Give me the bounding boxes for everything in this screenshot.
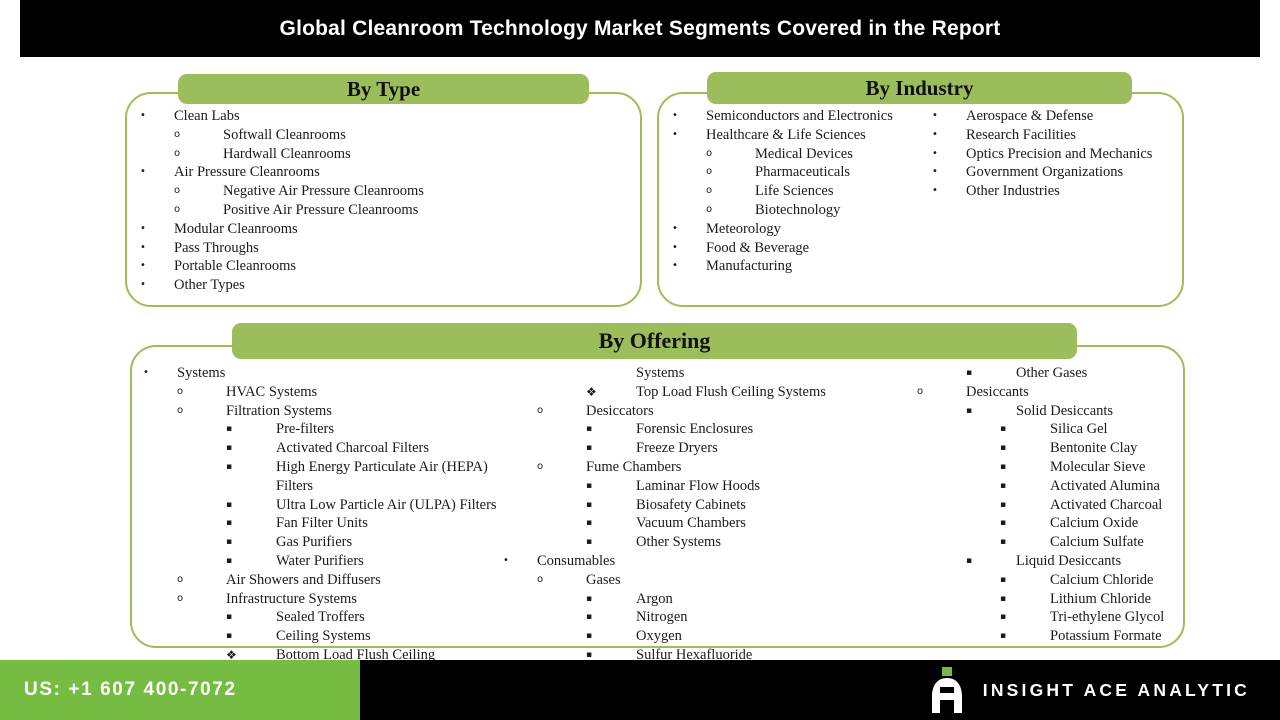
list-item: •Manufacturing [672, 257, 932, 276]
list-item-label: Vacuum Chambers [636, 514, 883, 533]
bullet-square-icon: ▪ [883, 477, 1050, 496]
list-item: oFume Chambers [503, 458, 883, 477]
bullet-dot-icon: • [140, 257, 174, 276]
bullet-circle-icon: o [503, 571, 586, 590]
list-item-label: Other Systems [636, 533, 883, 552]
list-item: ▪Water Purifiers [143, 552, 503, 571]
list-item-label: Fume Chambers [586, 458, 883, 477]
bullet-square-icon: ▪ [503, 533, 636, 552]
list-item: •Government Organizations [932, 163, 1172, 182]
list-item-label: Negative Air Pressure Cleanrooms [223, 182, 424, 201]
bullet-dot-icon: • [140, 276, 174, 295]
list-item-label: Hardwall Cleanrooms [223, 145, 424, 164]
list-item: ▪Ceiling Systems [143, 627, 503, 646]
bullet-dot-icon: • [672, 239, 706, 258]
bullet-circle-icon: o [140, 182, 223, 201]
list-item: •Other Industries [932, 182, 1172, 201]
list-item-label: Research Facilities [966, 126, 1172, 145]
list-item: •Pass Throughs [140, 239, 424, 258]
list-item-label: Consumables [537, 552, 883, 571]
list-item-label: Gases [586, 571, 883, 590]
list-item: ▪Biosafety Cabinets [503, 496, 883, 515]
list-item-label: Activated Charcoal [1050, 496, 1173, 515]
list-item-label: Meteorology [706, 220, 932, 239]
bullet-circle-icon: o [672, 201, 755, 220]
list-item-label: Water Purifiers [276, 552, 503, 571]
list-item-label: Solid Desiccants [1016, 402, 1173, 421]
bullet-square-icon: ▪ [503, 420, 636, 439]
list-item: •Meteorology [672, 220, 932, 239]
footer-bar: US: +1 607 400-7072 INSIGHT ACE ANALYTIC [0, 660, 1280, 720]
list-item-label: Oxygen [636, 627, 883, 646]
list-item-label: Activated Alumina [1050, 477, 1173, 496]
insight-ace-logo-icon [927, 667, 967, 713]
bullet-circle-icon: o [143, 590, 226, 609]
bullet-dot-icon: • [140, 220, 174, 239]
list-item: oMedical Devices [672, 145, 932, 164]
bullet-dot-icon: • [140, 107, 174, 126]
bullet-circle-icon: o [140, 201, 223, 220]
list-item: oGases [503, 571, 883, 590]
bullet-square-icon: ▪ [143, 496, 276, 515]
list-item-label: Food & Beverage [706, 239, 932, 258]
list-item-label: Filtration Systems [226, 402, 503, 421]
bullet-dot-icon: • [932, 182, 966, 201]
card-header-by-offering: By Offering [232, 323, 1077, 359]
list-item-label: Biotechnology [755, 201, 932, 220]
list-item-label: HVAC Systems [226, 383, 503, 402]
list-item: oLife Sciences [672, 182, 932, 201]
bullet-square-icon: ▪ [143, 608, 276, 627]
list-item-label: Bentonite Clay [1050, 439, 1173, 458]
list-item: oDesiccators [503, 402, 883, 421]
list-item-label: Desiccators [586, 402, 883, 421]
list-item: ▪Calcium Chloride [883, 571, 1173, 590]
bullet-dot-icon: • [672, 257, 706, 276]
list-item-label: Lithium Chloride [1050, 590, 1173, 609]
list-item: •Research Facilities [932, 126, 1172, 145]
by-offering-list: •SystemsoHVAC SystemsoFiltration Systems… [143, 364, 1173, 684]
bullet-square-icon: ▪ [503, 627, 636, 646]
list-item-label: Modular Cleanrooms [174, 220, 424, 239]
list-item-label: Life Sciences [755, 182, 932, 201]
list-item: ▪Fan Filter Units [143, 514, 503, 533]
list-item-label: Softwall Cleanrooms [223, 126, 424, 145]
bullet-square-icon: ▪ [883, 533, 1050, 552]
list-item-label: Nitrogen [636, 608, 883, 627]
list-item: oHardwall Cleanrooms [140, 145, 424, 164]
bullet-circle-icon: o [503, 458, 586, 477]
list-item-label: Other Gases [1016, 364, 1173, 383]
bullet-dot-icon: • [932, 145, 966, 164]
list-item-label: Systems [177, 364, 503, 383]
list-item: ▪Liquid Desiccants [883, 552, 1173, 571]
bullet-square-icon: ▪ [883, 590, 1050, 609]
list-item: ▪Sealed Troffers [143, 608, 503, 627]
list-item-label: Freeze Dryers [636, 439, 883, 458]
list-item-label: Potassium Formate [1050, 627, 1173, 646]
list-item-label: Molecular Sieve [1050, 458, 1173, 477]
list-item: ▪Pre-filters [143, 420, 503, 439]
list-item-label: Pharmaceuticals [755, 163, 932, 182]
list-item: ▪Nitrogen [503, 608, 883, 627]
list-item-label: Pre-filters [276, 420, 503, 439]
bullet-square-icon: ▪ [883, 364, 1016, 383]
list-item: oSoftwall Cleanrooms [140, 126, 424, 145]
list-item: •Air Pressure Cleanrooms [140, 163, 424, 182]
list-item: ▪Oxygen [503, 627, 883, 646]
bullet-dot-icon: • [672, 220, 706, 239]
bullet-square-icon: ▪ [143, 627, 276, 646]
list-item-label: Liquid Desiccants [1016, 552, 1173, 571]
bullet-circle-icon: o [672, 163, 755, 182]
bullet-square-icon: ▪ [883, 627, 1050, 646]
bullet-square-icon: ▪ [883, 514, 1050, 533]
list-item: oPharmaceuticals [672, 163, 932, 182]
card-header-by-industry: By Industry [707, 72, 1132, 104]
by-type-column: •Clean LabsoSoftwall CleanroomsoHardwall… [140, 107, 424, 295]
list-item-label: Clean Labs [174, 107, 424, 126]
list-item: oPositive Air Pressure Cleanrooms [140, 201, 424, 220]
list-item-label: Aerospace & Defense [966, 107, 1172, 126]
list-item: ▪Other Gases [883, 364, 1173, 383]
bullet-dot-icon: • [140, 163, 174, 182]
bullet-circle-icon: o [140, 126, 223, 145]
list-item: ▪Tri-ethylene Glycol [883, 608, 1173, 627]
list-item: oHVAC Systems [143, 383, 503, 402]
list-item-label: Sealed Troffers [276, 608, 503, 627]
list-item-label: Argon [636, 590, 883, 609]
bullet-square-icon: ▪ [883, 439, 1050, 458]
list-item-label: Activated Charcoal Filters [276, 439, 503, 458]
bullet-diamond-icon: ❖ [503, 383, 636, 402]
bullet-square-icon: ▪ [883, 608, 1050, 627]
list-item-label: Calcium Sulfate [1050, 533, 1173, 552]
list-item: ▪Lithium Chloride [883, 590, 1173, 609]
page-title: Global Cleanroom Technology Market Segme… [280, 17, 1001, 41]
list-item: •Optics Precision and Mechanics [932, 145, 1172, 164]
by-offering-column-3: ▪Other GasesoDesiccants▪Solid Desiccants… [883, 364, 1173, 684]
bullet-dot-icon: • [932, 107, 966, 126]
list-item-label: Infrastructure Systems [226, 590, 503, 609]
list-item-label: Healthcare & Life Sciences [706, 126, 932, 145]
list-item-label: Forensic Enclosures [636, 420, 883, 439]
list-item: ▪Laminar Flow Hoods [503, 477, 883, 496]
list-item: ▪Activated Charcoal Filters [143, 439, 503, 458]
list-item: ▪Potassium Formate [883, 627, 1173, 646]
list-item: •Food & Beverage [672, 239, 932, 258]
brand-name: INSIGHT ACE ANALYTIC [983, 680, 1250, 701]
list-item-label: Fan Filter Units [276, 514, 503, 533]
by-type-list: •Clean LabsoSoftwall CleanroomsoHardwall… [140, 107, 635, 295]
bullet-circle-icon: o [140, 145, 223, 164]
list-item: ▪Ultra Low Particle Air (ULPA) Filters [143, 496, 503, 515]
list-item: ▪Vacuum Chambers [503, 514, 883, 533]
list-item: ▪Calcium Sulfate [883, 533, 1173, 552]
bullet-square-icon: ▪ [883, 420, 1050, 439]
list-item: ▪Silica Gel [883, 420, 1173, 439]
bullet-dot-icon: • [143, 364, 177, 383]
list-item: •Systems [143, 364, 503, 383]
by-offering-column-1: •SystemsoHVAC SystemsoFiltration Systems… [143, 364, 503, 684]
bullet-square-icon: ▪ [883, 552, 1016, 571]
bullet-circle-icon: o [883, 383, 966, 402]
bullet-circle-icon: o [503, 402, 586, 421]
list-item-label: Other Types [174, 276, 424, 295]
footer-contact-block: US: +1 607 400-7072 [0, 660, 360, 720]
list-item-label: Silica Gel [1050, 420, 1173, 439]
list-item-label: High Energy Particulate Air (HEPA) Filte… [276, 458, 503, 496]
list-item-label: Laminar Flow Hoods [636, 477, 883, 496]
list-item: oNegative Air Pressure Cleanrooms [140, 182, 424, 201]
list-item-label: Gas Purifiers [276, 533, 503, 552]
list-item-label: Calcium Oxide [1050, 514, 1173, 533]
list-item: ▪Solid Desiccants [883, 402, 1173, 421]
list-item-label: Portable Cleanrooms [174, 257, 424, 276]
bullet-dot-icon: • [503, 552, 537, 571]
list-item-label: Optics Precision and Mechanics [966, 145, 1172, 164]
list-item: •Aerospace & Defense [932, 107, 1172, 126]
bullet-square-icon: ▪ [143, 514, 276, 533]
list-item: ▪Other Systems [503, 533, 883, 552]
bullet-circle-icon: o [143, 402, 226, 421]
list-item: Systems [503, 364, 883, 383]
list-item-label: Systems [636, 364, 883, 383]
bullet-square-icon: ▪ [503, 590, 636, 609]
list-item-label: Government Organizations [966, 163, 1172, 182]
list-item-label: Manufacturing [706, 257, 932, 276]
slide-canvas: Global Cleanroom Technology Market Segme… [0, 0, 1280, 720]
bullet-square-icon: ▪ [883, 458, 1050, 477]
list-item: oAir Showers and Diffusers [143, 571, 503, 590]
list-item-label: Top Load Flush Ceiling Systems [636, 383, 883, 402]
list-item: •Consumables [503, 552, 883, 571]
card-header-by-type: By Type [178, 74, 589, 104]
bullet-dot-icon: • [932, 163, 966, 182]
bullet-square-icon: ▪ [883, 496, 1050, 515]
list-item-label: Air Pressure Cleanrooms [174, 163, 424, 182]
list-item: ❖Top Load Flush Ceiling Systems [503, 383, 883, 402]
list-item: •Clean Labs [140, 107, 424, 126]
list-item: oDesiccants [883, 383, 1173, 402]
bullet-square-icon: ▪ [143, 458, 276, 477]
list-item: oFiltration Systems [143, 402, 503, 421]
list-item: •Other Types [140, 276, 424, 295]
by-industry-column-2: •Aerospace & Defense•Research Facilities… [932, 107, 1172, 276]
list-item-label: Biosafety Cabinets [636, 496, 883, 515]
list-item: ▪Gas Purifiers [143, 533, 503, 552]
list-item: ▪Calcium Oxide [883, 514, 1173, 533]
list-item: •Modular Cleanrooms [140, 220, 424, 239]
list-item-label: Air Showers and Diffusers [226, 571, 503, 590]
list-item: •Semiconductors and Electronics [672, 107, 932, 126]
list-item: •Portable Cleanrooms [140, 257, 424, 276]
by-industry-column-1: •Semiconductors and Electronics•Healthca… [672, 107, 932, 276]
list-item-label: Desiccants [966, 383, 1173, 402]
list-item: •Healthcare & Life Sciences [672, 126, 932, 145]
list-item-label: Tri-ethylene Glycol [1050, 608, 1173, 627]
list-item-label: Calcium Chloride [1050, 571, 1173, 590]
bullet-square-icon: ▪ [503, 496, 636, 515]
bullet-square-icon: ▪ [883, 571, 1050, 590]
list-item: ▪Freeze Dryers [503, 439, 883, 458]
bullet-square-icon: ▪ [503, 477, 636, 496]
phone-number[interactable]: US: +1 607 400-7072 [0, 679, 237, 701]
list-item: ▪Forensic Enclosures [503, 420, 883, 439]
title-bar: Global Cleanroom Technology Market Segme… [20, 0, 1260, 57]
bullet-square-icon: ▪ [503, 439, 636, 458]
list-item: ▪Bentonite Clay [883, 439, 1173, 458]
bullet-dot-icon: • [672, 107, 706, 126]
bullet-square-icon: ▪ [143, 439, 276, 458]
bullet-square-icon: ▪ [503, 514, 636, 533]
list-item-label: Other Industries [966, 182, 1172, 201]
footer-brand-block: INSIGHT ACE ANALYTIC [360, 660, 1280, 720]
bullet-square-icon: ▪ [143, 420, 276, 439]
list-item: ▪Argon [503, 590, 883, 609]
bullet-circle-icon: o [143, 383, 226, 402]
bullet-circle-icon: o [672, 145, 755, 164]
bullet-square-icon: ▪ [503, 608, 636, 627]
by-industry-list: •Semiconductors and Electronics•Healthca… [672, 107, 1172, 276]
list-item: ▪Molecular Sieve [883, 458, 1173, 477]
list-item: oInfrastructure Systems [143, 590, 503, 609]
bullet-circle-icon: o [672, 182, 755, 201]
bullet-dot-icon: • [672, 126, 706, 145]
bullet-square-icon: ▪ [143, 533, 276, 552]
bullet-square-icon: ▪ [143, 552, 276, 571]
by-offering-column-2: Systems❖Top Load Flush Ceiling SystemsoD… [503, 364, 883, 684]
list-item-label: Ceiling Systems [276, 627, 503, 646]
list-item-label: Positive Air Pressure Cleanrooms [223, 201, 424, 220]
bullet-square-icon: ▪ [883, 402, 1016, 421]
bullet-dot-icon: • [140, 239, 174, 258]
list-item-label: Pass Throughs [174, 239, 424, 258]
bullet-dot-icon: • [932, 126, 966, 145]
list-item: oBiotechnology [672, 201, 932, 220]
list-item-label: Semiconductors and Electronics [706, 107, 932, 126]
list-item: ▪High Energy Particulate Air (HEPA) Filt… [143, 458, 503, 496]
list-item: ▪Activated Alumina [883, 477, 1173, 496]
list-item-label: Ultra Low Particle Air (ULPA) Filters [276, 496, 503, 515]
bullet-circle-icon: o [143, 571, 226, 590]
list-item: ▪Activated Charcoal [883, 496, 1173, 515]
list-item-label: Medical Devices [755, 145, 932, 164]
